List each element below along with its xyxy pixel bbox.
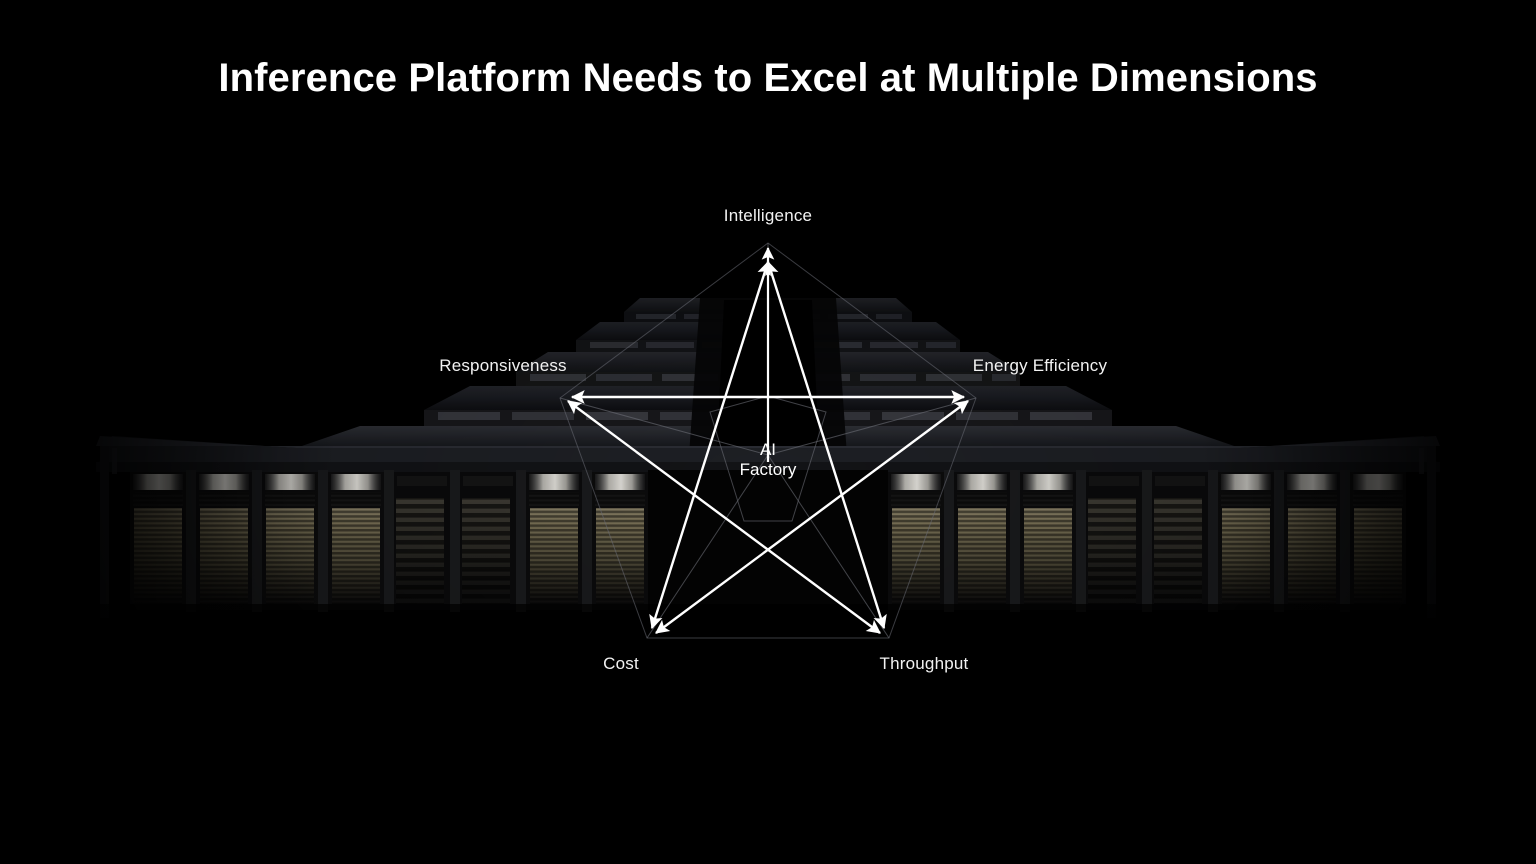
axis-label-energy-efficiency: Energy Efficiency — [973, 355, 1107, 376]
axis-label-cost: Cost — [603, 653, 639, 674]
axis-label-throughput: Throughput — [880, 653, 969, 674]
center-label-line-1: AI — [740, 440, 797, 460]
center-label-ai-factory: AI Factory — [740, 440, 797, 480]
radar-chart — [0, 0, 1536, 864]
page-title: Inference Platform Needs to Excel at Mul… — [0, 56, 1536, 101]
slide-root: Inference Platform Needs to Excel at Mul… — [0, 0, 1536, 864]
axis-label-responsiveness: Responsiveness — [439, 355, 567, 376]
center-label-line-2: Factory — [740, 460, 797, 480]
axis-label-intelligence: Intelligence — [724, 205, 812, 226]
